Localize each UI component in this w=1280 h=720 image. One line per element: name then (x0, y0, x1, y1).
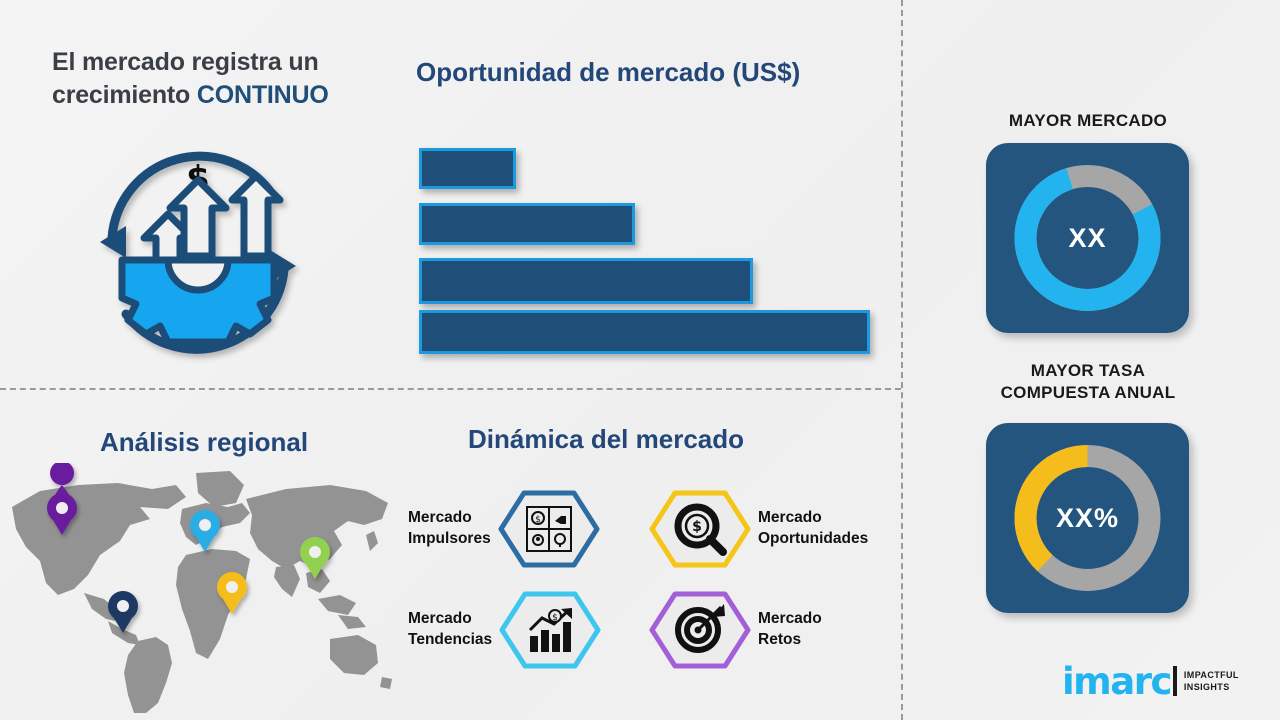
dynamics-label-line-2: Tendencias (408, 631, 492, 648)
hexagon-opportunities: $ (648, 489, 752, 569)
dynamics-label-line-1: Mercado (758, 509, 822, 526)
svg-text:$: $ (692, 519, 702, 535)
hexagon-drivers: $ (497, 489, 601, 569)
bar-item (419, 148, 516, 189)
dynamics-item-challenges[interactable]: Mercado Retos (648, 590, 822, 670)
asia-pacific-pin (300, 537, 330, 579)
dynamics-label-trends: Mercado Tendencias (408, 609, 492, 651)
highest-cagr-caption-line-2: COMPUESTA ANUAL (1001, 383, 1176, 402)
tagline-line-2: INSIGHTS (1184, 682, 1230, 692)
hexagon-trends: $ (498, 590, 602, 670)
dynamics-section-title: Dinámica del mercado (468, 424, 744, 455)
dynamics-label-drivers: Mercado Impulsores (408, 508, 491, 550)
largest-market-value: XX (986, 143, 1189, 333)
continuous-growth-icon: $ (82, 138, 314, 370)
headline-line-2-plain: crecimiento (52, 81, 197, 109)
largest-market-caption: MAYOR MERCADO (958, 110, 1218, 132)
highest-cagr-caption: MAYOR TASA COMPUESTA ANUAL (958, 360, 1218, 404)
page-title: El mercado registra un crecimiento CONTI… (52, 46, 412, 113)
imarc-wordmark: imarc (1062, 663, 1171, 700)
highest-cagr-donut-card: XX% (986, 423, 1189, 613)
headline-accent-word: CONTINUO (197, 81, 329, 109)
hexagon-challenges (648, 590, 752, 670)
dynamics-label-line-2: Oportunidades (758, 530, 868, 547)
imarc-logo[interactable]: imarc IMPACTFUL INSIGHTS (1062, 661, 1239, 701)
dynamics-item-trends[interactable]: Mercado Tendencias $ (408, 590, 602, 670)
tagline-line-1: IMPACTFUL (1184, 670, 1239, 680)
opportunity-section-title: Oportunidad de mercado (US$) (416, 57, 800, 88)
europe-pin (190, 510, 220, 552)
bar-item (419, 310, 870, 354)
headline-line-1: El mercado registra un (52, 48, 319, 76)
infographic-canvas: El mercado registra un crecimiento CONTI… (0, 0, 1280, 720)
dynamics-label-line-1: Mercado (758, 610, 822, 627)
bar-item (419, 258, 753, 304)
regional-section-title: Análisis regional (100, 427, 308, 458)
dynamics-label-opportunities: Mercado Oportunidades (758, 508, 868, 550)
dynamics-label-line-2: Retos (758, 631, 801, 648)
svg-text:$: $ (552, 613, 558, 623)
dynamics-label-line-1: Mercado (408, 610, 472, 627)
logo-divider-bar (1173, 666, 1177, 696)
imarc-tagline: IMPACTFUL INSIGHTS (1184, 669, 1239, 693)
highest-cagr-caption-line-1: MAYOR TASA (1031, 361, 1145, 380)
dynamics-label-line-1: Mercado (408, 509, 472, 526)
highest-cagr-value: XX% (986, 423, 1189, 613)
dynamics-item-opportunities[interactable]: $ Mercado Oportunidades (648, 489, 868, 569)
dynamics-label-line-2: Impulsores (408, 530, 491, 547)
dynamics-label-challenges: Mercado Retos (758, 609, 822, 651)
dynamics-item-drivers[interactable]: Mercado Impulsores $ (408, 489, 601, 569)
world-map (0, 463, 400, 713)
svg-text:$: $ (535, 515, 541, 525)
horizontal-divider (0, 388, 901, 390)
vertical-divider (901, 0, 903, 720)
market-opportunity-bar-chart (419, 146, 879, 356)
largest-market-donut-card: XX (986, 143, 1189, 333)
bar-item (419, 203, 635, 245)
